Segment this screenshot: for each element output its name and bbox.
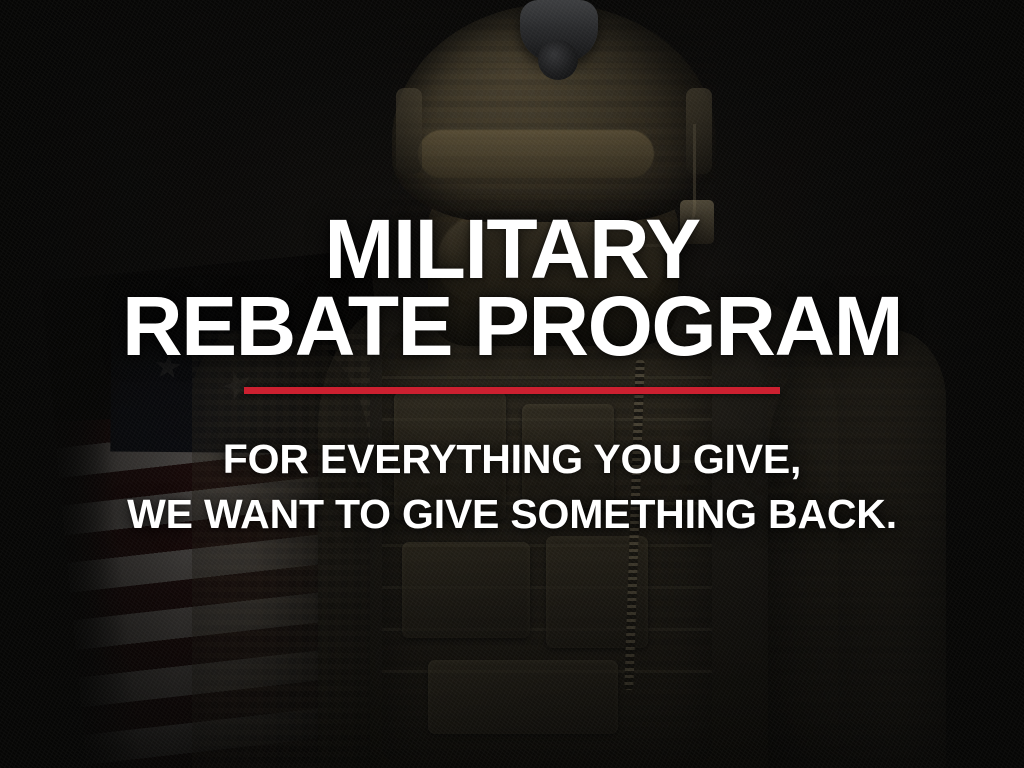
- subheadline-line-1: FOR EVERYTHING YOU GIVE,: [127, 432, 897, 487]
- subheadline-line-2: WE WANT TO GIVE SOMETHING BACK.: [127, 487, 897, 542]
- headline-line-2: REBATE PROGRAM: [122, 285, 902, 368]
- poster-content: MILITARY REBATE PROGRAM FOR EVERYTHING Y…: [0, 0, 1024, 768]
- military-rebate-poster: MILITARY REBATE PROGRAM FOR EVERYTHING Y…: [0, 0, 1024, 768]
- red-rule-divider: [244, 387, 780, 394]
- subheadline: FOR EVERYTHING YOU GIVE, WE WANT TO GIVE…: [127, 432, 897, 542]
